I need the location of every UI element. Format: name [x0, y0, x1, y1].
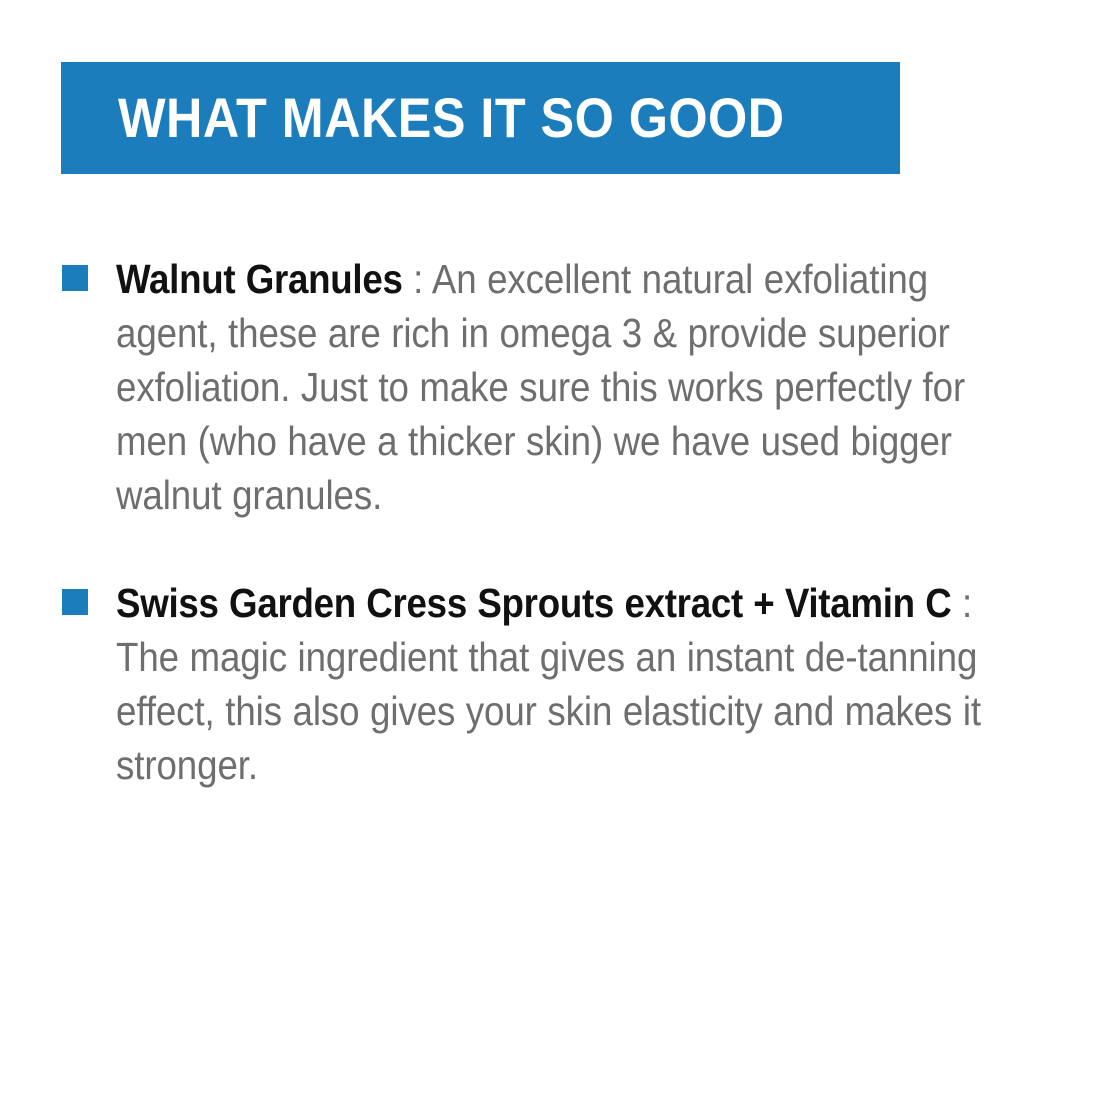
list-item-lead: Swiss Garden Cress Sprouts extract + Vit… — [116, 580, 951, 626]
list-item-text: Walnut Granules : An excellent natural e… — [116, 252, 1029, 522]
list-item-separator: : — [951, 580, 972, 626]
list-item-lead: Walnut Granules — [116, 256, 403, 302]
list-item: Swiss Garden Cress Sprouts extract + Vit… — [61, 576, 1036, 792]
filled-square-bullet-icon — [62, 265, 88, 291]
list-item-body: The magic ingredient that gives an insta… — [116, 634, 981, 788]
list-item: Walnut Granules : An excellent natural e… — [61, 252, 1036, 522]
section-header-banner: WHAT MAKES IT SO GOOD — [61, 62, 900, 174]
list-item-separator: : — [403, 256, 432, 302]
benefits-list: Walnut Granules : An excellent natural e… — [61, 252, 1036, 792]
page-title: WHAT MAKES IT SO GOOD — [118, 90, 785, 146]
list-item-text: Swiss Garden Cress Sprouts extract + Vit… — [116, 576, 1029, 792]
filled-square-bullet-icon — [62, 589, 88, 615]
